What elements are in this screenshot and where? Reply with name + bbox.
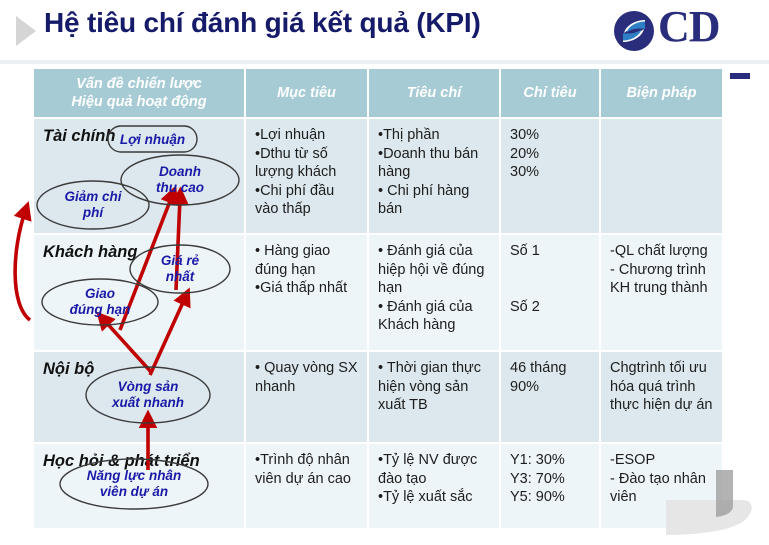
node-label-giam-chi-phi[interactable]: Giảm chi phí: [37, 189, 149, 220]
cell-muc-tieu: • Quay vòng SX nhanh: [245, 351, 368, 443]
cell-bien-phap: Chgtrình tối ưu hóa quá trình thực hiện …: [600, 351, 722, 443]
node-label-loi-nhuan[interactable]: Lợi nhuận: [108, 132, 197, 148]
cell-tieu-chi: • Đánh giá của hiệp hội về đúng hạn • Đá…: [368, 234, 500, 351]
node-label-giao-dung-han[interactable]: Giao đúng hạn: [42, 286, 158, 317]
page-title: Hệ tiêu chí đánh giá kết quả (KPI): [44, 7, 481, 39]
table-header-row: Vấn đề chiến lược Hiệu quả hoạt động Mục…: [34, 69, 722, 118]
header-accent-dash: [730, 73, 750, 79]
cell-tieu-chi: •Thị phần •Doanh thu bán hàng • Chi phí …: [368, 118, 500, 234]
triangle-bullet-icon: [16, 16, 36, 46]
column-header-muc-tieu: Mục tiêu: [245, 69, 368, 118]
column-header-chi-tieu: Chỉ tiêu: [500, 69, 600, 118]
cell-bien-phap: -QL chất lượng - Chương trình KH trung t…: [600, 234, 722, 351]
header-divider: [0, 60, 769, 64]
cell-tieu-chi: • Thời gian thực hiện vòng sản xuất TB: [368, 351, 500, 443]
arrow-giao-dung-han-to-giam-chi-phi: [15, 212, 30, 320]
scd-logo-mark-icon: [612, 9, 656, 53]
node-label-vong-san-xuat[interactable]: Vòng sản xuất nhanh: [86, 379, 210, 410]
logo-text: CD: [658, 1, 720, 52]
cell-chi-tieu: 30% 20% 30%: [500, 118, 600, 234]
cell-tieu-chi: •Tỷ lệ NV được đào tạo •Tỷ lệ xuất sắc: [368, 443, 500, 528]
cell-chi-tieu: Số 1 Số 2: [500, 234, 600, 351]
cell-chi-tieu: 46 tháng 90%: [500, 351, 600, 443]
cell-muc-tieu: •Lợi nhuận •Dthu từ số lượng khách •Chi …: [245, 118, 368, 234]
node-label-gia-re-nhat[interactable]: Giá rẻ nhất: [130, 253, 230, 284]
node-label-nang-luc-nv[interactable]: Năng lực nhân viên dự án: [60, 468, 208, 499]
perspective-label-noi-bo: Nội bộ: [43, 359, 237, 380]
cell-bien-phap: [600, 118, 722, 234]
cell-bien-phap: -ESOP - Đào tạo nhân viên: [600, 443, 722, 528]
cell-muc-tieu: •Trình độ nhân viên dự án cao: [245, 443, 368, 528]
cell-muc-tieu: • Hàng giao đúng hạn •Giá thấp nhất: [245, 234, 368, 351]
column-header-bien-phap: Biện pháp: [600, 69, 722, 118]
brand-logo: CD: [612, 5, 762, 55]
cell-chi-tieu: Y1: 30% Y3: 70% Y5: 90%: [500, 443, 600, 528]
column-header-tieu-chi: Tiêu chí: [368, 69, 500, 118]
column-header-van-de-chien-luoc: Vấn đề chiến lược Hiệu quả hoạt động: [34, 69, 245, 118]
